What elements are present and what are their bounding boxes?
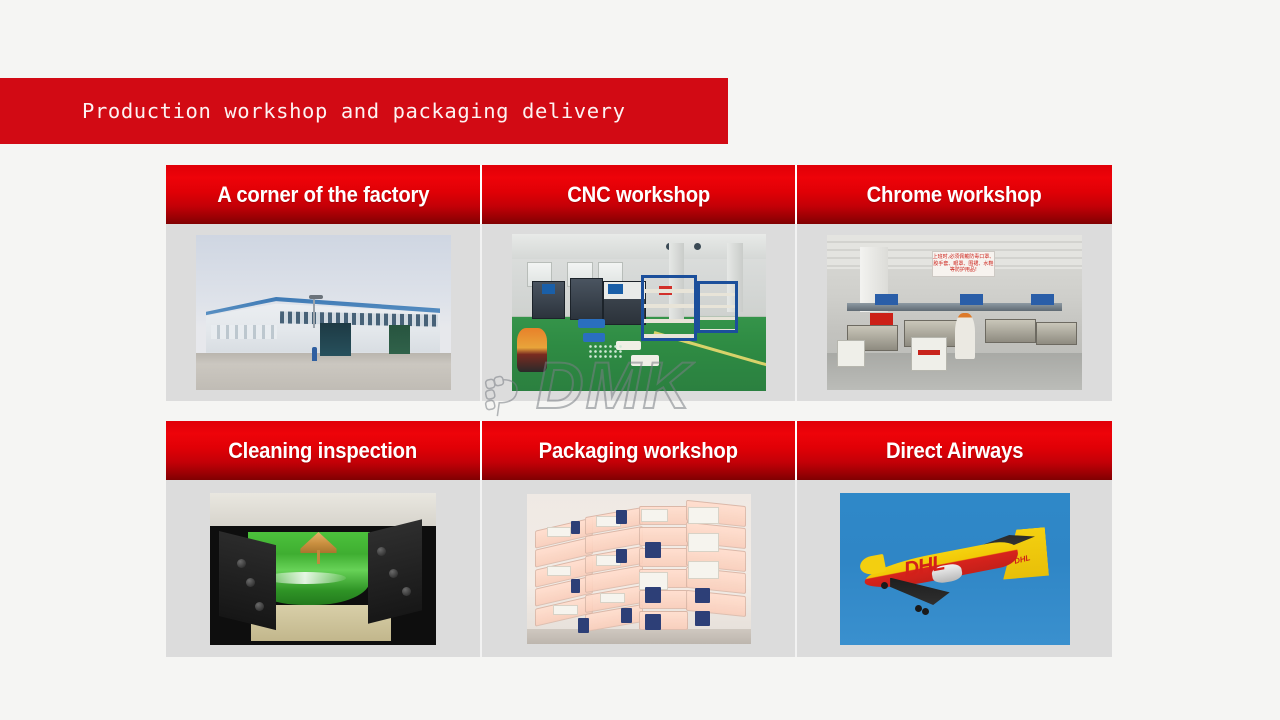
photo-cell-cnc[interactable] [482,224,797,401]
gallery-row-2: Cleaning inspection Packaging workshop D… [166,421,1112,657]
photo-cell-cleaning[interactable] [166,480,482,657]
photo-cell-packaging[interactable] [482,480,797,657]
cleaning-conveyor-photo [210,493,436,645]
dhl-cargo-plane-photo: DHL DHL [840,493,1070,645]
chrome-workshop-photo: 上班时,必须佩戴防毒口罩、胶手套、眼罩、围裙、水鞋等防护用品! [827,235,1082,390]
photo-cell-airways[interactable]: DHL DHL [797,480,1112,657]
page-title: Production workshop and packaging delive… [82,99,626,123]
header-cell-chrome[interactable]: Chrome workshop [797,165,1112,224]
gallery-row-1: A corner of the factory CNC workshop Chr… [166,165,1112,401]
header-row-1: A corner of the factory CNC workshop Chr… [166,165,1112,224]
header-cell-cnc[interactable]: CNC workshop [482,165,797,224]
packaged-boxes-photo [527,494,751,644]
safety-sign: 上班时,必须佩戴防毒口罩、胶手套、眼罩、围裙、水鞋等防护用品! [932,251,996,277]
cnc-workshop-photo [512,234,766,391]
header-label: Packaging workshop [539,438,738,464]
header-label: CNC workshop [567,182,710,208]
header-cell-cleaning[interactable]: Cleaning inspection [166,421,482,480]
header-label: Cleaning inspection [229,438,418,464]
photo-row-1: 上班时,必须佩戴防毒口罩、胶手套、眼罩、围裙、水鞋等防护用品! [166,224,1112,401]
header-cell-factory[interactable]: A corner of the factory [166,165,482,224]
photo-cell-chrome[interactable]: 上班时,必须佩戴防毒口罩、胶手套、眼罩、围裙、水鞋等防护用品! [797,224,1112,401]
header-label: Direct Airways [886,438,1023,464]
header-cell-airways[interactable]: Direct Airways [797,421,1112,480]
slide-canvas: Production workshop and packaging delive… [0,0,1280,720]
photo-row-2: DHL DHL [166,480,1112,657]
photo-cell-factory[interactable] [166,224,482,401]
title-banner: Production workshop and packaging delive… [0,78,728,144]
header-label: Chrome workshop [867,182,1042,208]
safety-sign-text: 上班时,必须佩戴防毒口罩、胶手套、眼罩、围裙、水鞋等防护用品! [933,254,995,273]
header-label: A corner of the factory [217,182,429,208]
header-cell-packaging[interactable]: Packaging workshop [482,421,797,480]
header-row-2: Cleaning inspection Packaging workshop D… [166,421,1112,480]
factory-exterior-photo [196,235,451,390]
